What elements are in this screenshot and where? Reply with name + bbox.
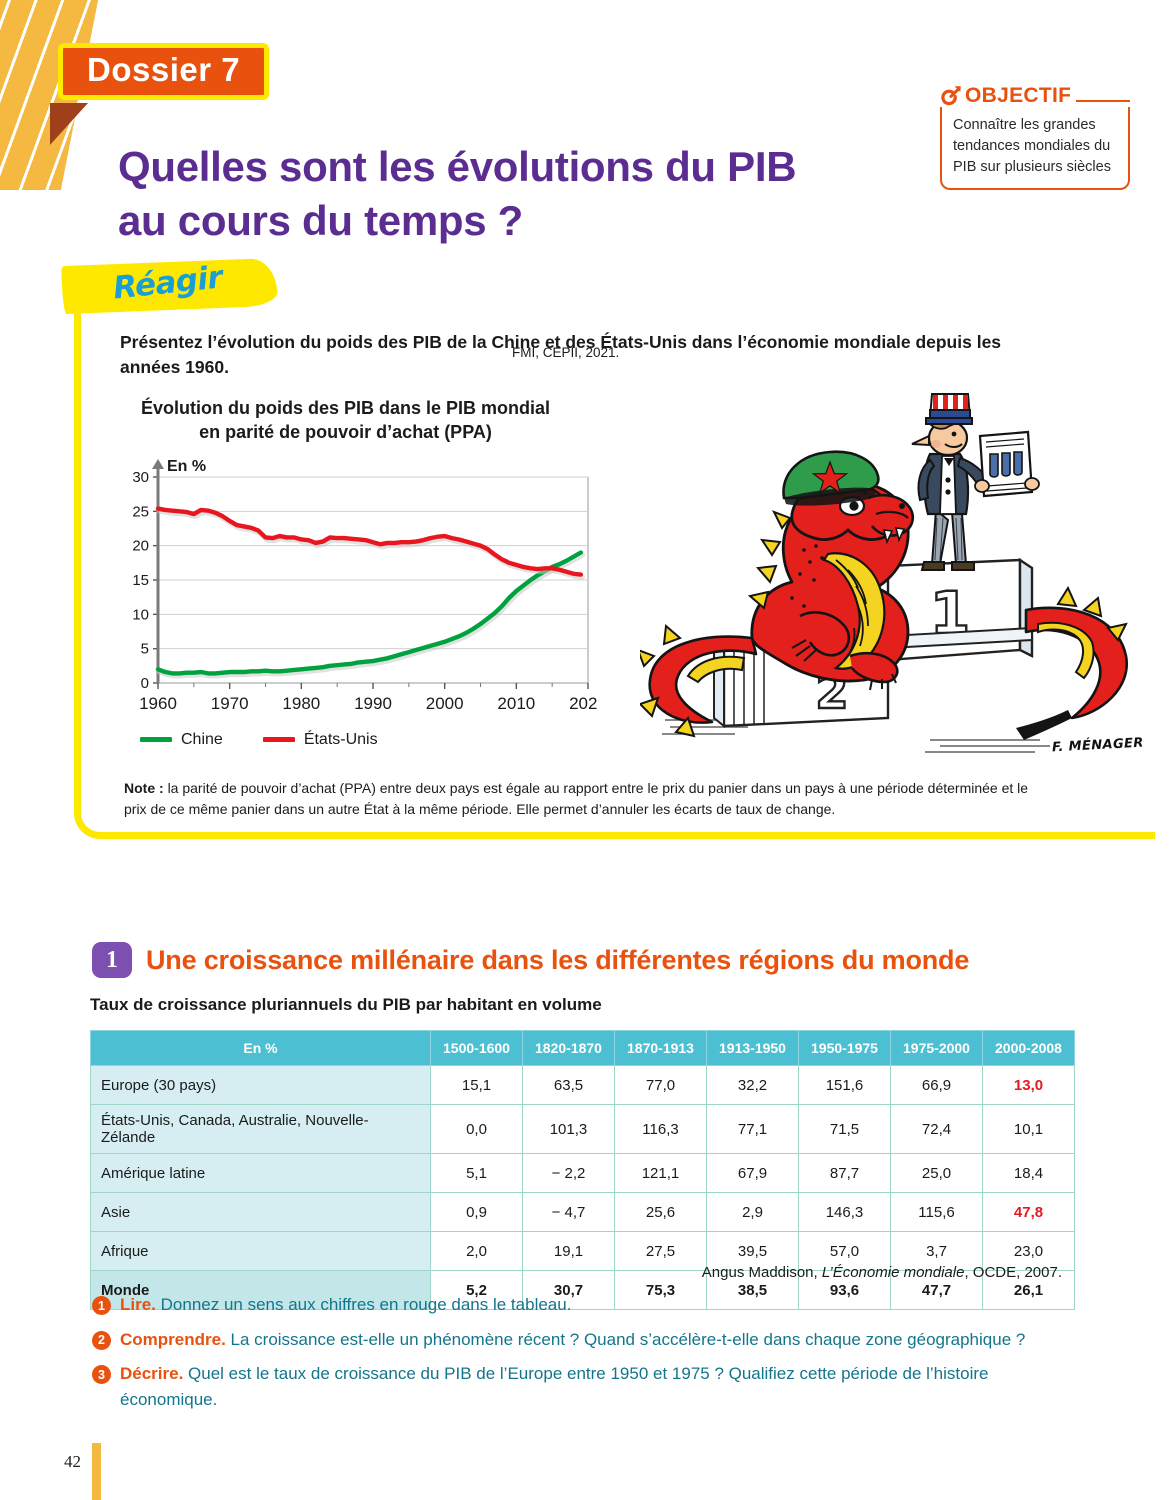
table-header-row: En %1500-16001820-18701870-19131913-1950… [91,1031,1075,1066]
table-row: Asie0,9− 4,725,62,9146,3115,647,8 [91,1193,1075,1232]
chart-xtick-label: 2020 [569,694,598,713]
table-row: Europe (30 pays)15,163,577,032,2151,666,… [91,1066,1075,1105]
table-source: Angus Maddison, L’Économie mondiale, OCD… [0,1264,1062,1281]
chart-title-line1: Évolution du poids des PIB dans le PIB m… [141,398,550,418]
table-row: États-Unis, Canada, Australie, Nouvelle-… [91,1105,1075,1154]
chart-xtick-label: 1990 [354,694,392,713]
table-cell: − 4,7 [523,1193,615,1232]
table-cell: 66,9 [891,1066,983,1105]
question-item: 2Comprendre. La croissance est-elle un p… [92,1327,1042,1353]
doc1-title: Une croissance millénaire dans les diffé… [146,945,969,976]
dossier-tag: Dossier 7 [58,43,269,100]
table-col-header-1913-1950: 1913-1950 [707,1031,799,1066]
chart-ytick-label: 30 [132,469,149,486]
legend-label-etats-unis: États-Unis [304,731,378,749]
table-cell: 25,0 [891,1154,983,1193]
table-row-label: États-Unis, Canada, Australie, Nouvelle-… [91,1105,431,1154]
legend-swatch-etats-unis [263,737,295,742]
chart-ytick-label: 5 [141,640,149,657]
doc1-heading: 1 Une croissance millénaire dans les dif… [92,942,969,978]
legend-item-chine: Chine [140,731,223,749]
legend-swatch-chine [140,737,172,742]
question-text: Comprendre. La croissance est-elle un ph… [120,1327,1025,1353]
chart-xtick-label: 1980 [282,694,320,713]
objectif-label: OBJECTIF [965,84,1071,108]
question-verb: Lire. [120,1295,156,1314]
question-number-badge: 3 [92,1365,111,1384]
question-item: 3Décrire. Quel est le taux de croissance… [92,1361,1042,1412]
page-title-line1: Quelles sont les évolutions du PIB [118,143,796,190]
table-cell: 116,3 [615,1105,707,1154]
table-source-author: Angus Maddison, [702,1264,822,1281]
table-cell: 77,1 [707,1105,799,1154]
table-source-work: L’Économie mondiale [822,1264,965,1281]
objectif-rule [1076,100,1130,102]
question-text: Décrire. Quel est le taux de croissance … [120,1361,1042,1412]
table-cell: 71,5 [799,1105,891,1154]
question-item: 1Lire. Donnez un sens aux chiffres en ro… [92,1292,1042,1318]
table-cell: 0,0 [431,1105,523,1154]
table-cell: 15,1 [431,1066,523,1105]
chart-ytick-label: 15 [132,572,149,589]
table-row: Amérique latine5,1− 2,2121,167,987,725,0… [91,1154,1075,1193]
question-verb: Décrire. [120,1364,183,1383]
table-col-header-1500-1600: 1500-1600 [431,1031,523,1066]
chart-ytick-label: 25 [132,503,149,520]
table-cell: 47,8 [983,1193,1075,1232]
ppa-note: Note : la parité de pouvoir d’achat (PPA… [124,778,1044,820]
question-number-badge: 2 [92,1331,111,1350]
chart-xtick-label: 2010 [497,694,535,713]
chart-canvas: 0510152025301960197019801990200020102020… [118,455,598,727]
page-title: Quelles sont les évolutions du PIB au co… [118,140,908,248]
table-cell: 10,1 [983,1105,1075,1154]
question-text: Lire. Donnez un sens aux chiffres en rou… [120,1292,571,1318]
table-cell: 25,6 [615,1193,707,1232]
table-col-header-1870-1913: 1870-1913 [615,1031,707,1066]
question-number-badge: 1 [92,1296,111,1315]
objectif-box: OBJECTIF Connaître les grandes tendances… [940,84,1130,190]
chart-source: FMI, CEPII, 2021. [512,345,619,360]
table-cell: 115,6 [891,1193,983,1232]
table-cell: 101,3 [523,1105,615,1154]
table-caption: Taux de croissance pluriannuels du PIB p… [90,995,602,1015]
chart-ytick-label: 10 [132,606,149,623]
questions-list: 1Lire. Donnez un sens aux chiffres en ro… [92,1292,1042,1421]
note-body: la parité de pouvoir d’achat (PPA) entre… [124,780,1028,817]
table-cell: 151,6 [799,1066,891,1105]
chart-ytick-label: 0 [141,675,149,692]
note-label: Note : [124,780,164,796]
table-col-header-2000-2008: 2000-2008 [983,1031,1075,1066]
table-cell: 2,9 [707,1193,799,1232]
table-cell: 18,4 [983,1154,1075,1193]
table-cell: 87,7 [799,1154,891,1193]
table-cell: 67,9 [707,1154,799,1193]
table-col-header-1950-1975: 1950-1975 [799,1031,891,1066]
page-accent-bar [92,1443,101,1500]
question-verb: Comprendre. [120,1330,226,1349]
table-cell: 63,5 [523,1066,615,1105]
page-number: 42 [64,1452,81,1472]
target-arrow-icon [940,84,962,108]
legend-label-chine: Chine [181,731,223,749]
legend-item-etats-unis: États-Unis [263,731,378,749]
chart-xtick-label: 1960 [139,694,177,713]
table-col-header-label: En % [91,1031,431,1066]
table-col-header-1975-2000: 1975-2000 [891,1031,983,1066]
chart-plot-area: 0510152025301960197019801990200020102020… [118,455,598,727]
chart-xtick-label: 1970 [211,694,249,713]
table-cell: 0,9 [431,1193,523,1232]
table-row-label: Asie [91,1193,431,1232]
chart-legend: Chine États-Unis [140,731,618,749]
table-cell: 32,2 [707,1066,799,1105]
chart-title: Évolution du poids des PIB dans le PIB m… [118,396,573,445]
doc1-badge: 1 [92,942,132,978]
table-col-header-1820-1870: 1820-1870 [523,1031,615,1066]
chart-title-line2: en parité de pouvoir d’achat (PPA) [199,422,492,442]
corner-arrow-shape [50,103,88,145]
table-cell: 13,0 [983,1066,1075,1105]
page-title-line2: au cours du temps ? [118,197,523,244]
pib-line-chart: Évolution du poids des PIB dans le PIB m… [118,396,618,749]
chart-ytick-label: 20 [132,537,149,554]
table-cell: 146,3 [799,1193,891,1232]
table-cell: 5,1 [431,1154,523,1193]
cartoon-illustration: 1 2 [640,388,1140,768]
table-cell: 77,0 [615,1066,707,1105]
chart-xtick-label: 2000 [426,694,464,713]
objectif-header: OBJECTIF [940,84,1130,108]
chart-ylabel: En % [167,458,206,475]
table-cell: 121,1 [615,1154,707,1193]
objectif-text: Connaître les grandes tendances mondiale… [940,107,1130,190]
table-source-pub: , OCDE, 2007. [964,1264,1062,1281]
table-cell: − 2,2 [523,1154,615,1193]
table-cell: 72,4 [891,1105,983,1154]
table-row-label: Amérique latine [91,1154,431,1193]
table-row-label: Europe (30 pays) [91,1066,431,1105]
chart-yaxis-arrow [152,459,164,469]
